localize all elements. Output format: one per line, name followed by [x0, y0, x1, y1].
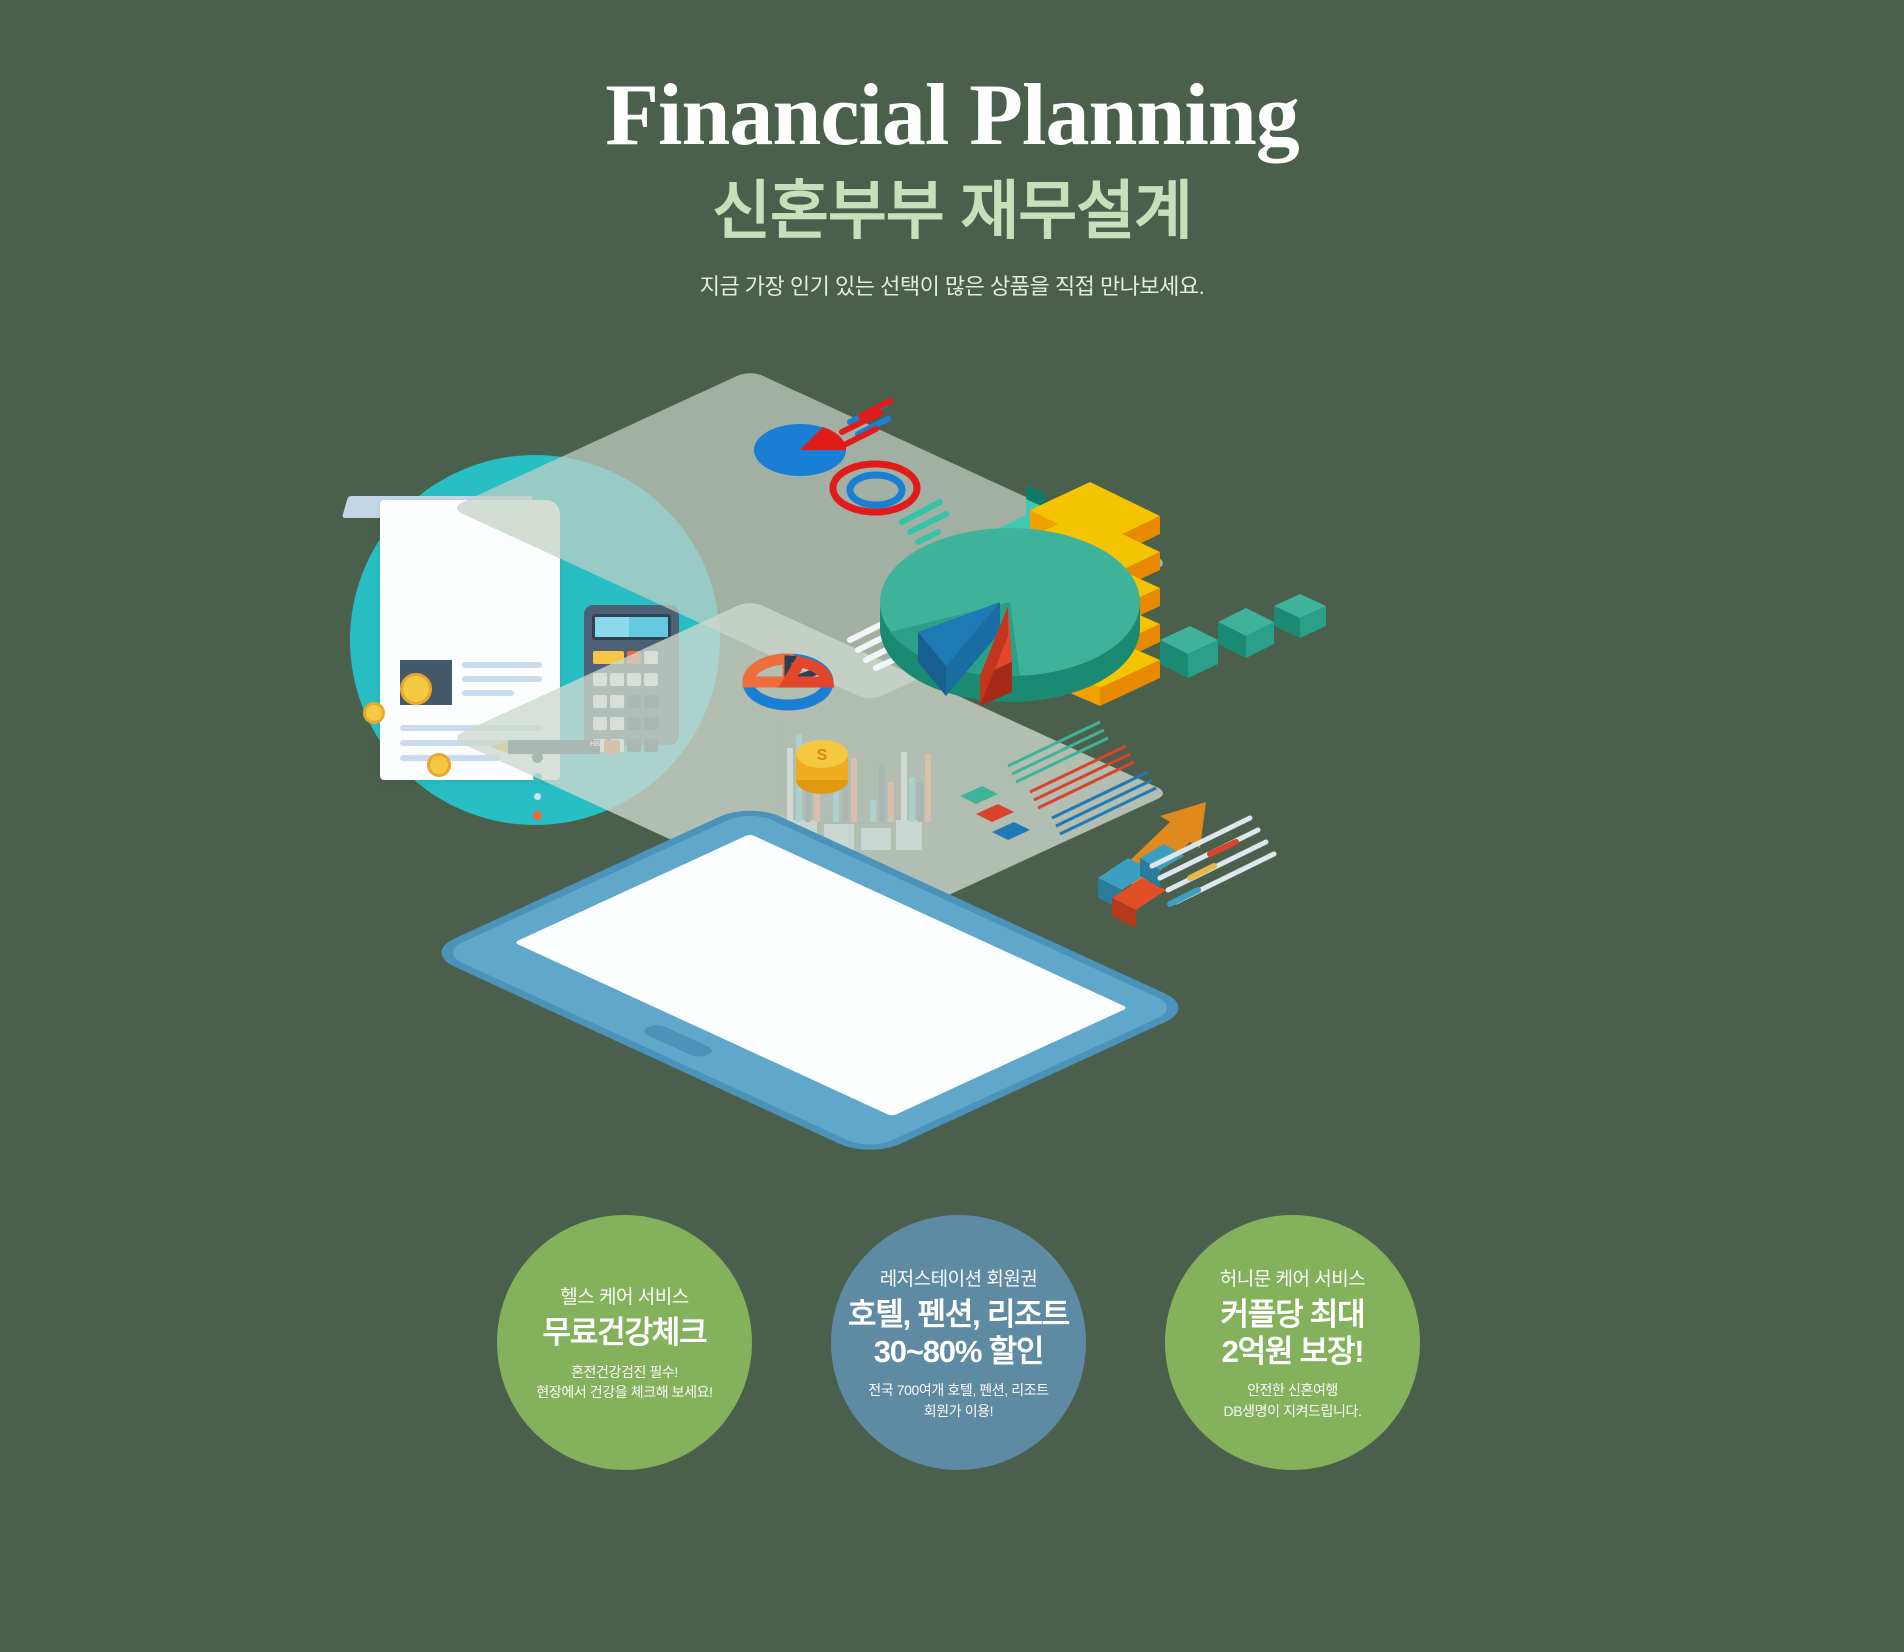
feature-desc-line: DB생명이 지켜드립니다. — [1224, 1401, 1362, 1421]
coin-icon — [363, 702, 385, 724]
feature-description: 안전한 신혼여행 DB생명이 지켜드립니다. — [1224, 1380, 1362, 1421]
feature-circles: 헬스 케어 서비스 무료건강체크 혼전건강검진 필수! 현장에서 건강을 체크해… — [0, 1215, 1904, 1515]
iso-cubes-green — [1160, 594, 1326, 678]
header: Financial Planning 신혼부부 재무설계 지금 가장 인기 있는… — [0, 0, 1904, 301]
document-text-line — [462, 690, 514, 696]
smartphone-device[interactable] — [440, 810, 1180, 1150]
feature-headline-line: 30~80% 할인 — [848, 1334, 1069, 1371]
feature-desc-line: 현장에서 건강을 체크해 보세요! — [536, 1382, 712, 1402]
page-title-english: Financial Planning — [0, 70, 1904, 162]
feature-headline-line: 2억원 보장! — [1220, 1334, 1364, 1371]
phone-growth-arrow — [1098, 802, 1206, 928]
feature-eyebrow: 헬스 케어 서비스 — [560, 1282, 688, 1309]
hero-illustration: HB — [0, 310, 1904, 990]
feature-card-leisure-station[interactable]: 레저스테이션 회원권 호텔, 펜션, 리조트 30~80% 할인 전국 700여… — [831, 1215, 1086, 1470]
coin-icon — [400, 673, 432, 705]
calculator-display — [592, 614, 671, 640]
feature-headline: 호텔, 펜션, 리조트 30~80% 할인 — [848, 1297, 1069, 1370]
feature-eyebrow: 레저스테이션 회원권 — [880, 1264, 1038, 1291]
feature-card-honeymoon-care[interactable]: 허니문 케어 서비스 커플당 최대 2억원 보장! 안전한 신혼여행 DB생명이… — [1165, 1215, 1420, 1470]
document-text-line — [462, 662, 542, 668]
phone-paragraph-lines — [1152, 818, 1274, 904]
phone-screen[interactable] — [514, 834, 1128, 1116]
promo-banner: Financial Planning 신혼부부 재무설계 지금 가장 인기 있는… — [0, 0, 1904, 1652]
feature-desc-line: 전국 700여개 호텔, 펜션, 리조트 — [868, 1380, 1048, 1400]
coin-icon — [427, 753, 451, 777]
feature-eyebrow: 허니문 케어 서비스 — [1220, 1264, 1365, 1291]
isometric-dashboard-stack: S — [690, 310, 1390, 970]
document-text-line — [462, 676, 542, 682]
feature-desc-line: 혼전건강검진 필수! — [536, 1362, 712, 1382]
feature-description: 전국 700여개 호텔, 펜션, 리조트 회원가 이용! — [868, 1380, 1048, 1421]
chart-legend-dot-light — [534, 793, 541, 800]
feature-headline-line: 커플당 최대 — [1220, 1297, 1364, 1334]
page-subtitle: 지금 가장 인기 있는 선택이 많은 상품을 직접 만나보세요. — [0, 269, 1904, 301]
feature-headline: 커플당 최대 2억원 보장! — [1220, 1297, 1364, 1370]
feature-headline: 무료건강체크 — [543, 1315, 707, 1352]
chart-legend-dot-orange — [533, 811, 542, 820]
feature-desc-line: 회원가 이용! — [868, 1401, 1048, 1421]
feature-headline-line: 호텔, 펜션, 리조트 — [848, 1297, 1069, 1334]
feature-desc-line: 안전한 신혼여행 — [1224, 1380, 1362, 1400]
feature-description: 혼전건강검진 필수! 현장에서 건강을 체크해 보세요! — [536, 1362, 712, 1403]
page-title-korean: 신혼부부 재무설계 — [0, 176, 1904, 246]
feature-card-health-care[interactable]: 헬스 케어 서비스 무료건강체크 혼전건강검진 필수! 현장에서 건강을 체크해… — [497, 1215, 752, 1470]
